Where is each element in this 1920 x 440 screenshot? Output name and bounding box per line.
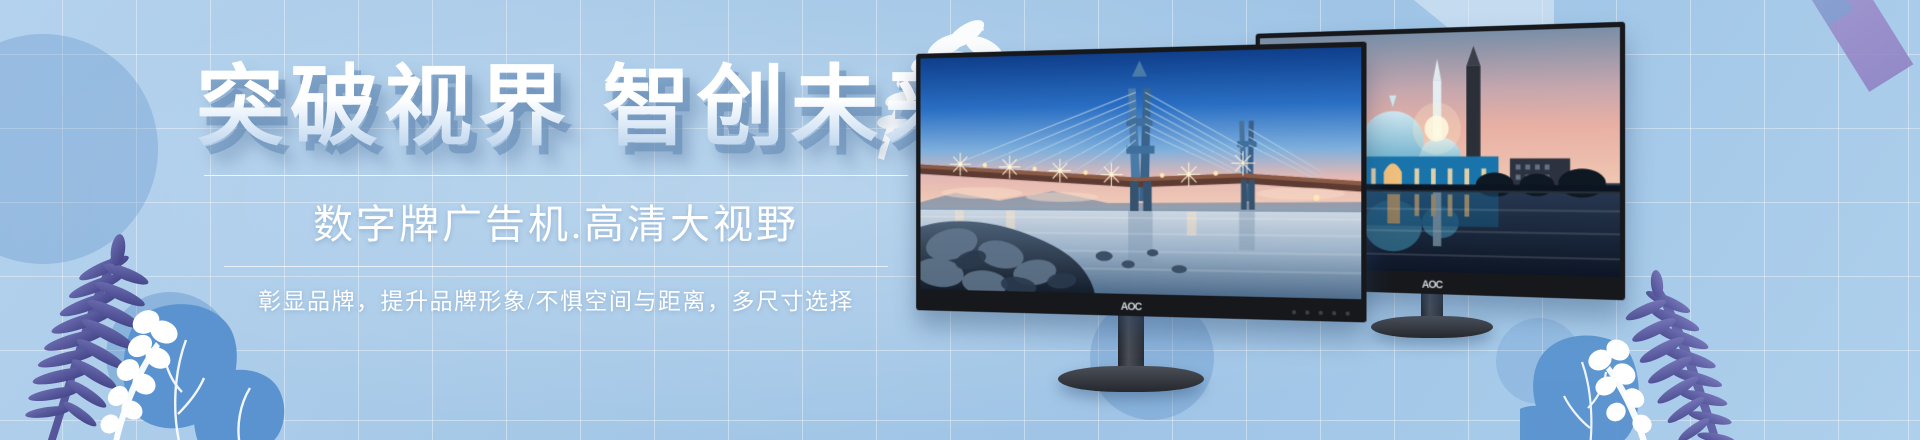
monitor-screen-front <box>920 47 1361 299</box>
diagonal-ribbon <box>1647 0 1914 92</box>
monitor-bezel: AOC <box>916 42 1366 323</box>
control-button[interactable] <box>1346 311 1350 315</box>
control-button[interactable] <box>1292 310 1296 314</box>
headline: 突破视界 智创未来 <box>196 60 916 153</box>
diagonal-ribbon <box>1638 0 1854 26</box>
divider <box>204 175 908 176</box>
divider <box>224 266 888 267</box>
promo-banner: 突破视界 智创未来 数字牌广告机.高清大视野 彰显品牌，提升品牌形象/不惧空间与… <box>0 0 1920 440</box>
stand-base <box>1058 366 1204 392</box>
control-button[interactable] <box>1332 311 1336 315</box>
control-button[interactable] <box>1305 310 1309 314</box>
stand-neck <box>1118 312 1144 370</box>
tagline: 彰显品牌，提升品牌形象/不惧空间与距离，多尺寸选择 <box>196 282 916 316</box>
monitor-brand-logo: AOC <box>1422 279 1442 292</box>
stand-base <box>1371 316 1493 338</box>
monitor-brand-logo: AOC <box>1121 301 1142 314</box>
monitor-control-buttons[interactable] <box>1292 310 1350 316</box>
control-button[interactable] <box>1319 311 1323 315</box>
copy-block: 突破视界 智创未来 数字牌广告机.高清大视野 彰显品牌，提升品牌形象/不惧空间与… <box>196 60 916 316</box>
subtitle: 数字牌广告机.高清大视野 <box>196 192 916 250</box>
monitor-front: AOC <box>916 42 1366 323</box>
